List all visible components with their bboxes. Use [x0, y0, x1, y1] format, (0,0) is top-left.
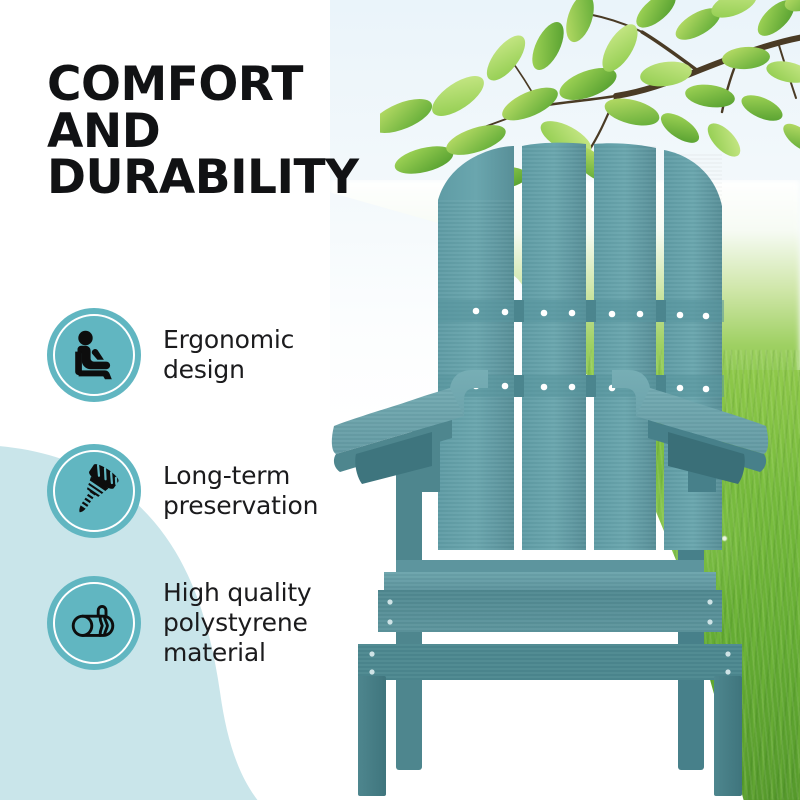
product-feature-banner: Comfort and Durability Ergonomic design: [0, 0, 800, 800]
front-right-leg: [714, 676, 742, 796]
feature-list: Ergonomic design: [47, 300, 357, 678]
feature-label: Long-term preservation: [163, 461, 318, 522]
feature-item-long-term-preservation: Long-term preservation: [47, 436, 357, 546]
feature-item-high-quality-polystyrene-material: High quality polystyrene material: [47, 568, 357, 678]
screw-icon: [47, 444, 141, 538]
wood-log-icon: [47, 576, 141, 670]
page-title: Comfort and Durability: [47, 62, 407, 202]
feature-label: High quality polystyrene material: [163, 578, 312, 669]
feature-label: Ergonomic design: [163, 325, 294, 386]
seated-person-icon: [47, 308, 141, 402]
feature-item-ergonomic-design: Ergonomic design: [47, 300, 357, 410]
